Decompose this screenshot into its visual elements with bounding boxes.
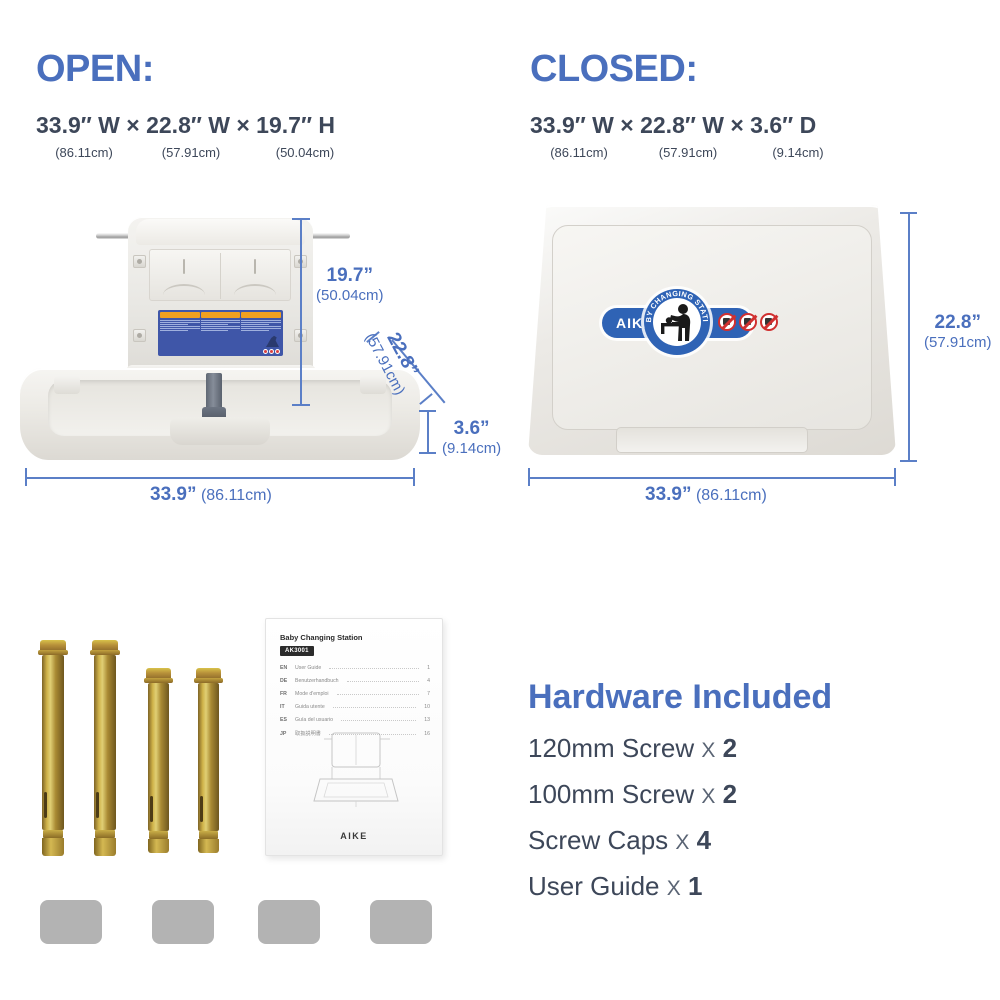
height-dimension-line bbox=[300, 218, 302, 406]
booklet-model-badge: AK3001 bbox=[280, 646, 314, 656]
mount-bolt-bottom-left bbox=[133, 329, 146, 342]
closed-cm-depth-d: (9.14cm) bbox=[748, 145, 848, 160]
warning-column-2 bbox=[201, 319, 241, 354]
screw-cap-3 bbox=[258, 900, 320, 944]
closed-height-tick-top bbox=[900, 212, 917, 214]
changing-baby-pictogram bbox=[656, 300, 700, 344]
closed-width-tick-left bbox=[528, 468, 530, 486]
closed-width-dimension-line bbox=[528, 477, 896, 479]
booklet-row-fr: FR Mode d'emploi 7 bbox=[280, 691, 430, 697]
hardware-item-screw-caps: Screw Caps X 4 bbox=[528, 825, 711, 856]
hardware-item-x: X bbox=[701, 785, 715, 808]
liner-slot-right bbox=[254, 259, 256, 274]
screw-cap-2 bbox=[152, 900, 214, 944]
thickness-dimension-line bbox=[427, 410, 429, 454]
open-cm-depth: (57.91cm) bbox=[132, 145, 250, 160]
warning-label-icons bbox=[263, 349, 280, 354]
warning-column-1 bbox=[160, 319, 200, 354]
side-pocket-left bbox=[54, 376, 80, 394]
booklet-product-diagram bbox=[306, 727, 406, 813]
open-width-callout: 33.9” (86.11cm) bbox=[150, 484, 272, 506]
booklet-title: Baby Changing Station bbox=[280, 633, 363, 642]
backrest-top-edge bbox=[136, 219, 305, 245]
hardware-item-qty: 2 bbox=[723, 733, 737, 763]
hardware-item-x: X bbox=[667, 877, 681, 900]
closed-dimensions-line: 33.9″ W × 22.8″ W × 3.6″ D bbox=[530, 112, 816, 139]
warning-dot-1 bbox=[263, 349, 268, 354]
liner-dispenser bbox=[149, 249, 291, 301]
booklet-row-es: ES Guía del usuario 13 bbox=[280, 717, 430, 723]
booklet-brand-logo: AIKE bbox=[266, 831, 442, 841]
hardware-item-name: User Guide bbox=[528, 871, 660, 901]
hardware-item-x: X bbox=[675, 831, 689, 854]
closed-height-callout: 22.8” (57.91cm) bbox=[924, 312, 992, 351]
closed-section-heading: CLOSED: bbox=[530, 48, 698, 91]
user-guide-booklet: Baby Changing Station AK3001 EN User Gui… bbox=[265, 618, 443, 856]
closed-cm-width: (86.11cm) bbox=[530, 145, 628, 160]
screw-cap-4 bbox=[370, 900, 432, 944]
closed-cm-row: (86.11cm) (57.91cm) (9.14cm) bbox=[530, 145, 870, 160]
warning-label-headers bbox=[160, 312, 281, 318]
warning-dot-3 bbox=[275, 349, 280, 354]
open-dimensions-line: 33.9″ W × 22.8″ W × 19.7″ H bbox=[36, 112, 335, 139]
warning-icon-1 bbox=[718, 313, 736, 331]
hardware-item-name: Screw Caps bbox=[528, 825, 668, 855]
badge-warning-icons bbox=[718, 313, 778, 331]
backrest-panel bbox=[128, 217, 313, 372]
thickness-tick-top bbox=[419, 410, 436, 412]
warning-icon-2 bbox=[739, 313, 757, 331]
hardware-item-qty: 1 bbox=[688, 871, 702, 901]
closed-height-tick-bottom bbox=[900, 460, 917, 462]
liner-slot-left bbox=[183, 259, 185, 274]
badge-circle: BABY CHANGING STATION bbox=[644, 289, 710, 355]
hardware-item-name: 100mm Screw bbox=[528, 779, 694, 809]
screw-120mm-1 bbox=[40, 640, 66, 858]
warning-dot-2 bbox=[269, 349, 274, 354]
booklet-row-it: IT Guida utente 10 bbox=[280, 704, 430, 710]
open-unit-illustration bbox=[20, 205, 420, 465]
hardware-item-x: X bbox=[701, 739, 715, 762]
booklet-row-de: DE Benutzerhandbuch 4 bbox=[280, 678, 430, 684]
closed-width-tick-right bbox=[894, 468, 896, 486]
height-callout: 19.7” (50.04cm) bbox=[316, 265, 384, 304]
screw-100mm-1 bbox=[146, 668, 171, 854]
hardware-item-120mm-screw: 120mm Screw X 2 bbox=[528, 733, 737, 764]
hardware-item-user-guide: User Guide X 1 bbox=[528, 871, 702, 902]
screw-cap-1 bbox=[40, 900, 102, 944]
closed-unit-illustration: AIKE BABY CHANGING STATION bbox=[528, 205, 896, 467]
warning-header-3 bbox=[241, 312, 281, 318]
thickness-tick-bottom bbox=[419, 452, 436, 454]
handle-recess bbox=[616, 427, 808, 453]
closed-cm-depth: (57.91cm) bbox=[628, 145, 748, 160]
open-cm-height: (50.04cm) bbox=[250, 145, 360, 160]
open-width-tick-left bbox=[25, 468, 27, 486]
screw-100mm-2 bbox=[196, 668, 221, 854]
closed-width-callout: 33.9” (86.11cm) bbox=[645, 484, 767, 506]
warning-header-2 bbox=[201, 312, 241, 318]
hardware-item-qty: 2 bbox=[723, 779, 737, 809]
height-tick-bottom bbox=[292, 404, 310, 406]
depth-tick-bottom bbox=[419, 393, 433, 405]
warning-label bbox=[158, 310, 283, 356]
hardware-included-title: Hardware Included bbox=[528, 678, 832, 717]
tray-front-lip bbox=[170, 417, 270, 445]
mount-bolt-top-left bbox=[133, 255, 146, 268]
open-width-dimension-line bbox=[25, 477, 415, 479]
liner-scoop-left bbox=[163, 284, 205, 295]
warning-icon-3 bbox=[760, 313, 778, 331]
infographic-canvas: OPEN: 33.9″ W × 22.8″ W × 19.7″ H (86.11… bbox=[0, 0, 1000, 1000]
screw-120mm-2 bbox=[92, 640, 118, 858]
closed-height-dimension-line bbox=[908, 212, 910, 462]
hardware-item-100mm-screw: 100mm Screw X 2 bbox=[528, 779, 737, 810]
height-tick-top bbox=[292, 218, 310, 220]
open-width-tick-right bbox=[413, 468, 415, 486]
booklet-row-en: EN User Guide 1 bbox=[280, 665, 430, 671]
liner-scoop-right bbox=[234, 284, 276, 295]
hardware-item-qty: 4 bbox=[697, 825, 711, 855]
open-section-heading: OPEN: bbox=[36, 48, 154, 91]
warning-header-1 bbox=[160, 312, 200, 318]
hardware-item-name: 120mm Screw bbox=[528, 733, 694, 763]
open-cm-row: (86.11cm) (57.91cm) (50.04cm) bbox=[36, 145, 376, 160]
open-cm-width: (86.11cm) bbox=[36, 145, 132, 160]
thickness-callout: 3.6” (9.14cm) bbox=[442, 418, 501, 457]
